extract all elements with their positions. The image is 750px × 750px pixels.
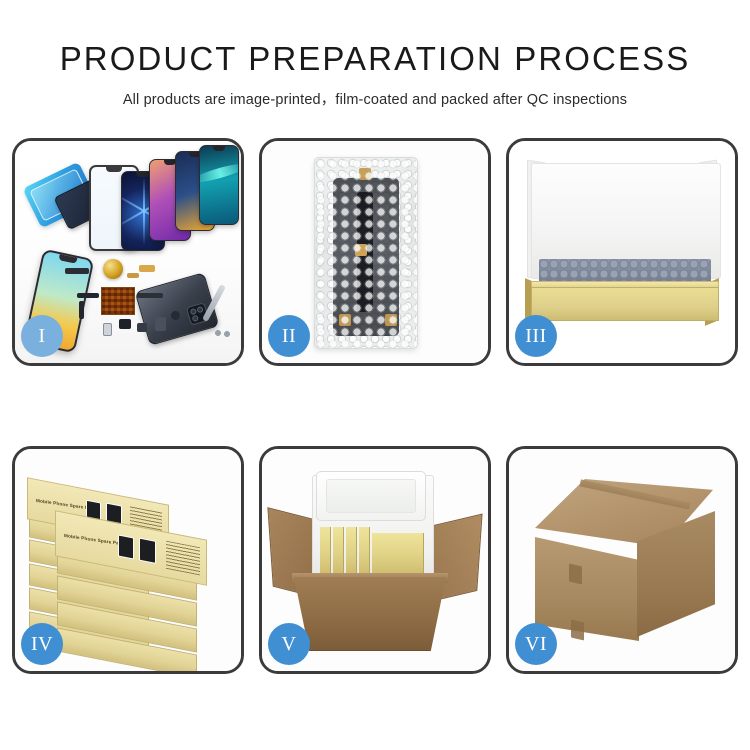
step-numeral-4: IV bbox=[31, 633, 53, 656]
connector-icon bbox=[339, 314, 351, 326]
connector-icon bbox=[385, 314, 397, 326]
flex-cable-right-icon bbox=[137, 293, 163, 298]
bubble-wrap-bag-icon bbox=[314, 157, 418, 349]
process-step-6: VI bbox=[506, 446, 738, 674]
battery-part-icon bbox=[103, 323, 112, 336]
copper-grid-part-icon bbox=[101, 287, 135, 315]
box-screen-image bbox=[139, 538, 156, 564]
process-step-3: III bbox=[506, 138, 738, 366]
connector-icon bbox=[355, 244, 367, 256]
box-spec-lines bbox=[166, 541, 200, 576]
step-numeral-6: VI bbox=[525, 633, 547, 656]
carton-tape-icon bbox=[569, 563, 582, 584]
box-label-text: Mobile Phone Spare Parts bbox=[64, 533, 126, 547]
gold-connector-icon bbox=[139, 265, 155, 272]
process-step-2: II bbox=[259, 138, 491, 366]
step-numeral-3: III bbox=[525, 325, 546, 348]
page-subtitle: All products are image-printed，film-coat… bbox=[0, 88, 750, 109]
process-step-1: I bbox=[12, 138, 244, 366]
chip-part-icon bbox=[119, 319, 131, 329]
carton-tape-icon bbox=[571, 619, 584, 640]
foam-lid-icon bbox=[316, 471, 426, 521]
step-badge-6: VI bbox=[515, 623, 557, 665]
carton-front-icon bbox=[294, 577, 446, 651]
process-step-4: Mobile Phone Spare Parts Mobile Phone Sp… bbox=[12, 446, 244, 674]
button-part-icon bbox=[171, 311, 180, 320]
gold-connector-small-icon bbox=[127, 273, 139, 278]
chip-part-2-icon bbox=[137, 323, 147, 332]
header: PRODUCT PREPARATION PROCESS All products… bbox=[0, 0, 750, 109]
step-badge-2: II bbox=[268, 315, 310, 357]
process-step-5: V bbox=[259, 446, 491, 674]
flex-cable-vertical-icon bbox=[79, 301, 84, 319]
yellow-box-front-icon bbox=[531, 287, 719, 321]
speaker-part-icon bbox=[155, 317, 166, 331]
strip-part-icon bbox=[65, 268, 89, 274]
box-screen-image bbox=[118, 534, 134, 559]
flex-cable-icon bbox=[77, 293, 99, 298]
process-grid: I II bbox=[12, 138, 738, 674]
step-badge-3: III bbox=[515, 315, 557, 357]
step-numeral-5: V bbox=[282, 633, 297, 656]
step-numeral-2: II bbox=[282, 325, 296, 348]
step-numeral-1: I bbox=[38, 325, 45, 348]
step-badge-1: I bbox=[21, 315, 63, 357]
product-preparation-infographic: PRODUCT PREPARATION PROCESS All products… bbox=[0, 0, 750, 750]
carton-left-face bbox=[535, 537, 639, 641]
connector-icon bbox=[359, 168, 371, 180]
step-badge-4: IV bbox=[21, 623, 63, 665]
phone-teal-icon bbox=[199, 145, 239, 225]
page-title: PRODUCT PREPARATION PROCESS bbox=[0, 42, 750, 77]
coil-part-icon bbox=[103, 259, 123, 279]
screws-icon bbox=[215, 329, 233, 337]
yellow-boxes-group bbox=[320, 527, 426, 575]
step-badge-5: V bbox=[268, 623, 310, 665]
